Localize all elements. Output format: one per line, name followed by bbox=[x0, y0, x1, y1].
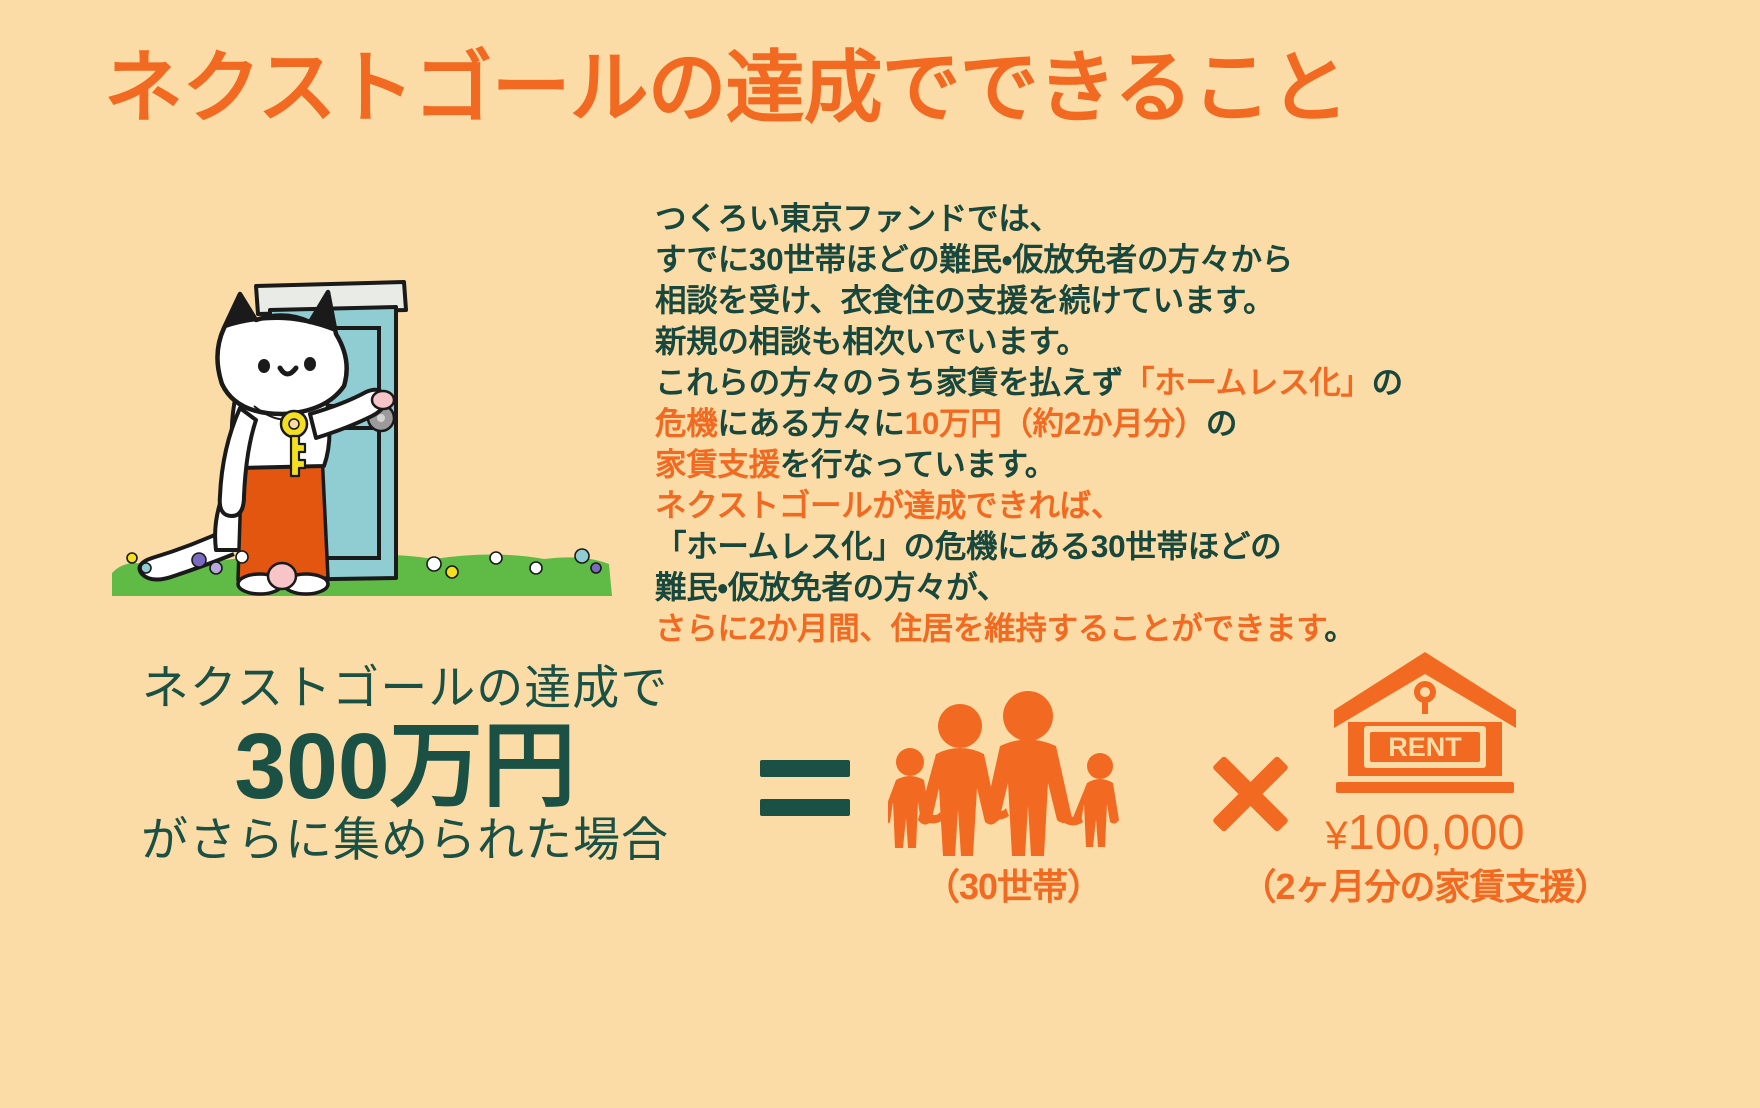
body-line-4: 新規の相談も相次いでいます。 bbox=[655, 321, 1375, 362]
sum-line-1: ネクストゴールの達成で bbox=[90, 660, 720, 716]
body-line-4-seg-1: 新規の相談も相次いでいます。 bbox=[655, 323, 1088, 359]
body-line-10: 難民・仮放免者の方々が、 bbox=[655, 567, 1375, 608]
body-line-7: 家賃支援を行なっています。 bbox=[655, 444, 1375, 485]
equation-row: ネクストゴールの達成で 300万円 がさらに集められた場合 bbox=[0, 640, 1760, 1070]
rent-sign-text: RENT bbox=[1388, 732, 1462, 762]
body-line-9: 「ホームレス化」の危機にある30世帯ほどの bbox=[655, 526, 1375, 567]
rent-house-icon: RENT bbox=[1330, 648, 1520, 798]
rent-price-value: 100,000 bbox=[1348, 806, 1525, 860]
body-line-6: 危機にある方々に10万円（約2か月分）の bbox=[655, 403, 1375, 444]
infographic-canvas: ネクストゴールの達成でできること bbox=[0, 0, 1760, 1108]
equals-icon bbox=[760, 758, 850, 820]
body-line-7-seg-1: 家賃支援 bbox=[655, 446, 780, 482]
body-line-7-seg-2: を行なっています。 bbox=[780, 446, 1056, 482]
body-line-9-seg-1: 「ホームレス化」の危機にある30世帯ほどの bbox=[655, 528, 1281, 564]
body-line-6-seg-2: にある方々に bbox=[717, 405, 904, 441]
body-line-6-seg-4: の bbox=[1206, 405, 1237, 441]
body-line-1-seg-1: つくろい東京ファンドでは、 bbox=[655, 200, 1061, 236]
family-label: （30世帯） bbox=[838, 858, 1188, 910]
body-copy: つくろい東京ファンドでは、すでに30世帯ほどの難民・仮放免者の方々から相談を受け… bbox=[655, 198, 1375, 649]
yen-symbol: ¥ bbox=[1325, 814, 1347, 858]
body-line-5-seg-2: 「ホームレス化」 bbox=[1123, 364, 1372, 400]
family-icon bbox=[888, 688, 1138, 856]
rent-price: ¥100,000 bbox=[1260, 805, 1590, 861]
body-line-1: つくろい東京ファンドでは、 bbox=[655, 198, 1375, 239]
body-line-8-seg-1: ネクストゴールが達成できれば、 bbox=[655, 487, 1122, 523]
body-line-6-seg-1: 危機 bbox=[655, 405, 717, 441]
body-line-3-seg-1: 相談を受け、衣食住の支援を続けています。 bbox=[655, 282, 1274, 318]
page-title: ネクストゴールの達成でできること bbox=[104, 44, 1348, 132]
cat-at-door-illustration bbox=[104, 228, 664, 618]
body-line-6-seg-3: 10万円（約2か月分） bbox=[905, 405, 1206, 441]
sum-line-3: がさらに集められた場合 bbox=[90, 812, 720, 868]
body-line-5: これらの方々のうち家賃を払えず「ホームレス化」の bbox=[655, 362, 1375, 403]
sum-amount: 300万円 bbox=[90, 714, 720, 818]
body-line-2: すでに30世帯ほどの難民・仮放免者の方々から bbox=[655, 239, 1375, 280]
body-line-3: 相談を受け、衣食住の支援を続けています。 bbox=[655, 280, 1375, 321]
sum-block: ネクストゴールの達成で 300万円 がさらに集められた場合 bbox=[90, 660, 720, 868]
body-line-2-seg-1: すでに30世帯ほどの難民・仮放免者の方々から bbox=[655, 241, 1293, 277]
body-line-5-seg-1: これらの方々のうち家賃を払えず bbox=[655, 364, 1123, 400]
body-line-10-seg-1: 難民・仮放免者の方々が、 bbox=[655, 569, 1008, 605]
body-line-8: ネクストゴールが達成できれば、 bbox=[655, 485, 1375, 526]
body-line-5-seg-3: の bbox=[1372, 364, 1403, 400]
rent-label: （2ヶ月分の家賃支援） bbox=[1235, 858, 1615, 910]
